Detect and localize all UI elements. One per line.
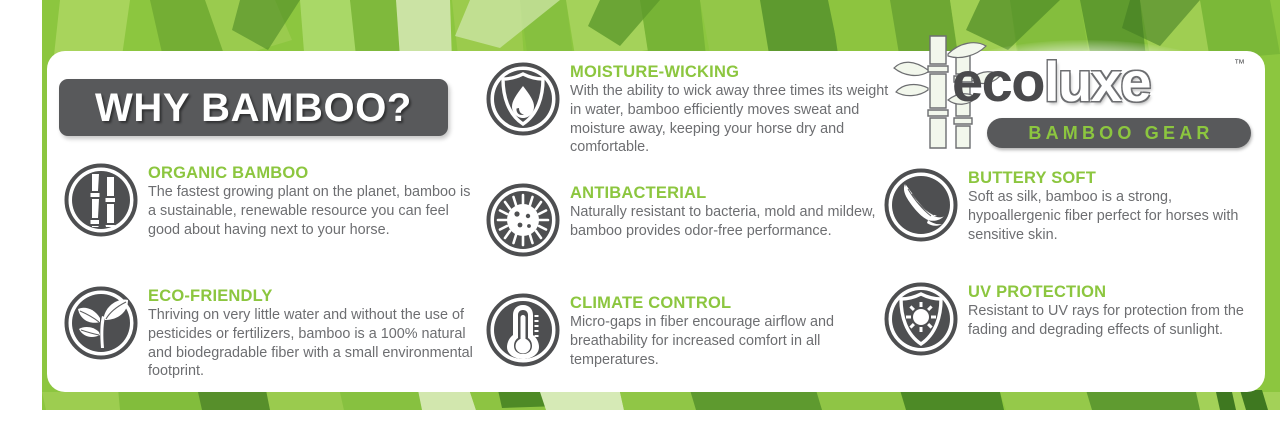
feature-text: ANTIBACTERIAL Naturally resistant to bac… [570, 183, 886, 241]
feature-moisture-wicking: MOISTURE-WICKING With the ability to wic… [486, 62, 898, 157]
logo-luxe-text: luxe [1044, 50, 1150, 113]
logo-tagline-text: BAMBOO GEAR [1024, 124, 1213, 142]
feature-eco-friendly: ECO-FRIENDLY Thriving on very little wat… [64, 286, 484, 381]
logo-trademark: ™ [1234, 58, 1245, 70]
thermometer-icon [486, 293, 560, 367]
feature-body: Soft as silk, bamboo is a strong, hypoal… [968, 188, 1262, 244]
logo-wordmark: ecoluxe [952, 54, 1150, 110]
page-title: WHY BAMBOO? [59, 79, 448, 136]
bottom-white-margin [0, 410, 1280, 433]
feature-text: ECO-FRIENDLY Thriving on very little wat… [148, 286, 484, 381]
bamboo-stalks-icon [64, 163, 138, 237]
feature-heading: ORGANIC BAMBOO [148, 164, 474, 182]
feature-heading: MOISTURE-WICKING [570, 63, 898, 81]
feature-body: Resistant to UV rays for protection from… [968, 302, 1262, 339]
sprout-leaf-icon [64, 286, 138, 360]
feature-body: The fastest growing plant on the planet,… [148, 183, 474, 239]
shield-sun-icon [884, 282, 958, 356]
feature-antibacterial: ANTIBACTERIAL Naturally resistant to bac… [486, 183, 886, 257]
feature-heading: BUTTERY SOFT [968, 169, 1262, 187]
left-white-margin [0, 0, 42, 410]
ecoluxe-logo: ecoluxe ™ BAMBOO GEAR [890, 22, 1260, 156]
feature-body: Naturally resistant to bacteria, mold an… [570, 203, 886, 240]
feature-text: MOISTURE-WICKING With the ability to wic… [570, 62, 898, 157]
page-title-text: WHY BAMBOO? [95, 88, 412, 128]
feature-text: ORGANIC BAMBOO The fastest growing plant… [148, 163, 474, 239]
feature-text: UV PROTECTION Resistant to UV rays for p… [968, 282, 1262, 340]
feature-heading: ANTIBACTERIAL [570, 184, 886, 202]
feature-heading: CLIMATE CONTROL [570, 294, 886, 312]
feature-climate-control: CLIMATE CONTROL Micro-gaps in fiber enco… [486, 293, 886, 369]
feature-buttery-soft: BUTTERY SOFT Soft as silk, bamboo is a s… [884, 168, 1262, 244]
feature-body: Micro-gaps in fiber encourage airflow an… [570, 313, 886, 369]
feature-text: CLIMATE CONTROL Micro-gaps in fiber enco… [570, 293, 886, 369]
feature-heading: UV PROTECTION [968, 283, 1262, 301]
feature-uv-protection: UV PROTECTION Resistant to UV rays for p… [884, 282, 1262, 356]
feature-organic-bamboo: ORGANIC BAMBOO The fastest growing plant… [64, 163, 474, 239]
infographic-root: WHY BAMBOO? [0, 0, 1280, 433]
feather-icon [884, 168, 958, 242]
feature-body: Thriving on very little water and withou… [148, 306, 484, 381]
feature-heading: ECO-FRIENDLY [148, 287, 484, 305]
feature-text: BUTTERY SOFT Soft as silk, bamboo is a s… [968, 168, 1262, 244]
feature-body: With the ability to wick away three time… [570, 82, 898, 157]
germ-microbe-icon [486, 183, 560, 257]
logo-eco-text: eco [952, 50, 1044, 113]
shield-water-droplet-icon [486, 62, 560, 136]
logo-tagline: BAMBOO GEAR [987, 118, 1251, 148]
